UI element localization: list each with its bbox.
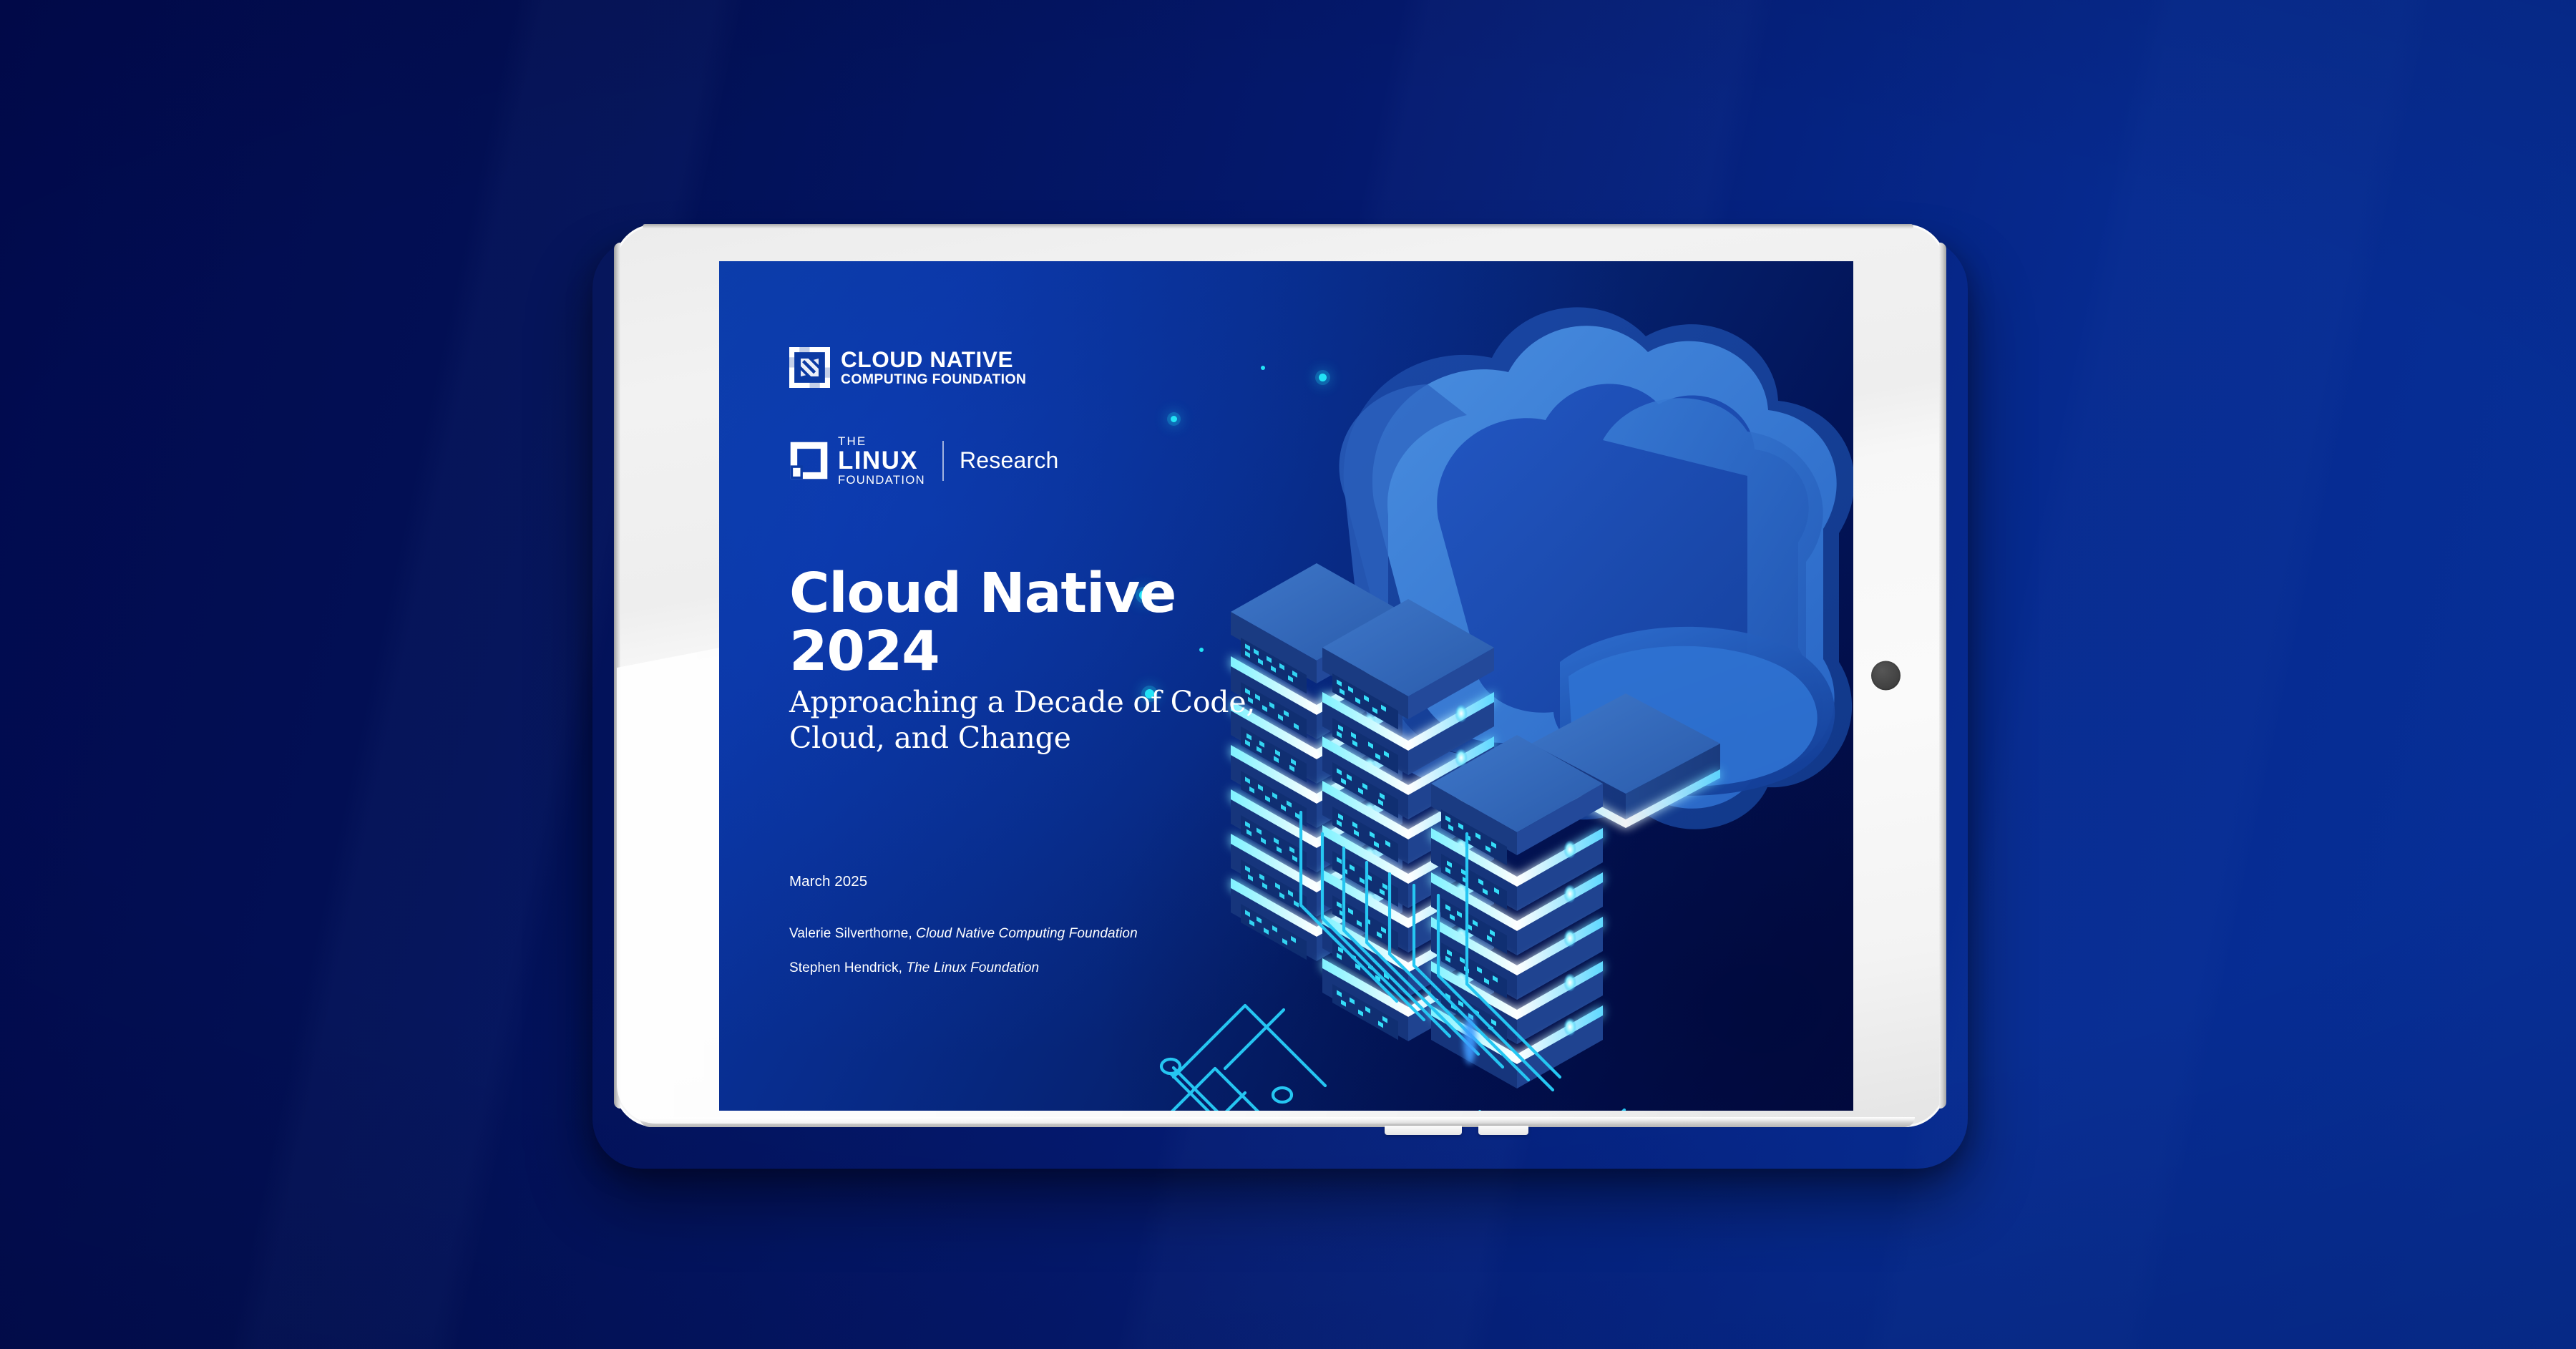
author-entry: Stephen Hendrick, The Linux Foundation xyxy=(789,960,1039,976)
lf-research-label: Research xyxy=(960,447,1059,474)
tablet-screen[interactable]: CLOUD NATIVE COMPUTING FOUNDATION THE LI… xyxy=(719,261,1853,1111)
cncf-logo: CLOUD NATIVE COMPUTING FOUNDATION xyxy=(789,347,1026,388)
title-line-1: Cloud Native xyxy=(789,562,1176,625)
linux-foundation-logo: THE LINUX FOUNDATION Research xyxy=(789,435,1059,487)
publication-date: March 2025 xyxy=(789,873,867,890)
tablet-right-edge xyxy=(1939,243,1946,1109)
author-name: Valerie Silverthorne, xyxy=(789,926,912,941)
tablet-bottom-edge xyxy=(640,1117,1915,1127)
tablet-foot-right xyxy=(1478,1126,1528,1135)
author-name: Stephen Hendrick, xyxy=(789,960,902,975)
cncf-logo-line1: CLOUD NATIVE xyxy=(841,349,1026,371)
cover-content: CLOUD NATIVE COMPUTING FOUNDATION THE LI… xyxy=(719,261,1853,1111)
screenshot-root: CLOUD NATIVE COMPUTING FOUNDATION THE LI… xyxy=(0,0,2576,1349)
lf-logo-linux: LINUX xyxy=(838,448,925,473)
logo-divider xyxy=(942,441,944,481)
lf-logo-foundation: FOUNDATION xyxy=(838,474,925,487)
home-button[interactable] xyxy=(1871,661,1901,691)
tablet-left-edge xyxy=(614,243,620,1109)
linux-foundation-square-icon xyxy=(789,441,829,480)
subtitle-line-1: Approaching a Decade of Code, xyxy=(789,685,1255,719)
tablet-top-edge xyxy=(643,224,1913,229)
title-line-2: 2024 xyxy=(789,620,940,683)
author-affiliation: The Linux Foundation xyxy=(906,960,1039,975)
lf-logo-the: THE xyxy=(838,435,925,447)
tablet-device: CLOUD NATIVE COMPUTING FOUNDATION THE LI… xyxy=(614,224,1946,1127)
cncf-logo-line2: COMPUTING FOUNDATION xyxy=(841,373,1026,386)
page-subtitle: Approaching a Decade of Code, Cloud, and… xyxy=(789,684,1290,756)
page-title: Cloud Native 2024 xyxy=(789,565,1333,681)
author-affiliation: Cloud Native Computing Foundation xyxy=(916,926,1138,941)
subtitle-line-2: Cloud, and Change xyxy=(789,721,1071,755)
tablet-foot-left xyxy=(1385,1126,1462,1135)
cncf-helm-icon xyxy=(789,347,830,388)
author-entry: Valerie Silverthorne, Cloud Native Compu… xyxy=(789,926,1138,942)
